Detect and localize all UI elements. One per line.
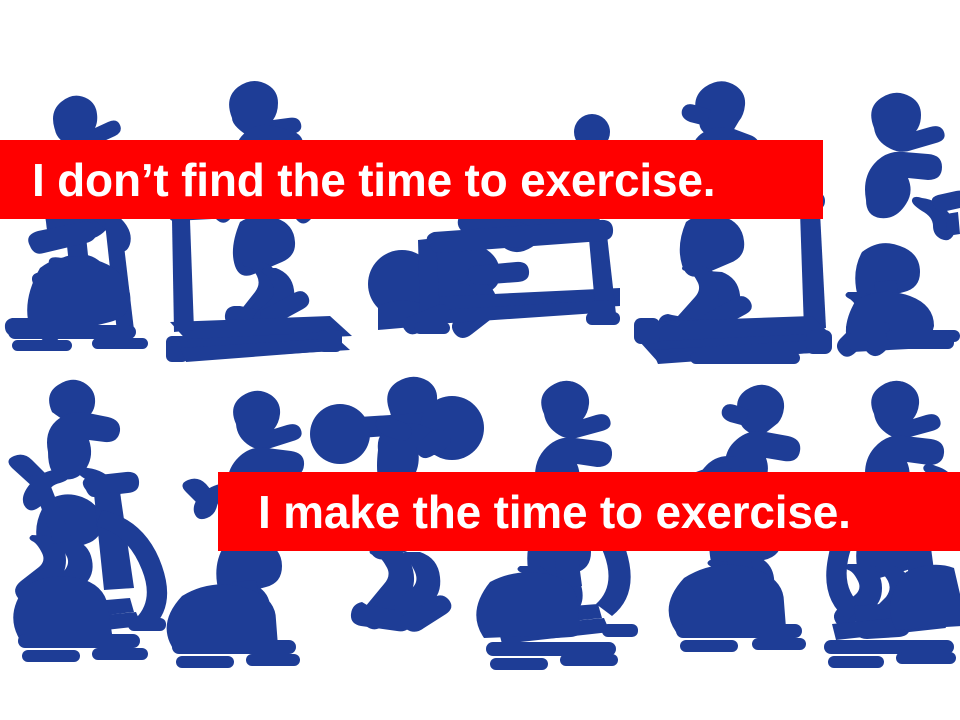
- slide-canvas: I don’t find the time to exercise. I mak…: [0, 0, 960, 720]
- statement-banner-positive: I make the time to exercise.: [218, 472, 960, 551]
- banner-text-positive: I make the time to exercise.: [258, 489, 851, 535]
- statement-banner-negative: I don’t find the time to exercise.: [0, 140, 823, 219]
- figure-woman-on-elliptical-stepper: [8, 380, 167, 662]
- figure-woman-on-treadmill-2: [634, 81, 832, 364]
- figure-woman-on-spin-bike: [837, 93, 960, 357]
- silhouette-artwork: [0, 0, 960, 720]
- figure-woman-on-upright-exercise-bike: [5, 96, 148, 351]
- banner-text-negative: I don’t find the time to exercise.: [32, 157, 715, 203]
- figure-woman-on-treadmill: [166, 81, 352, 362]
